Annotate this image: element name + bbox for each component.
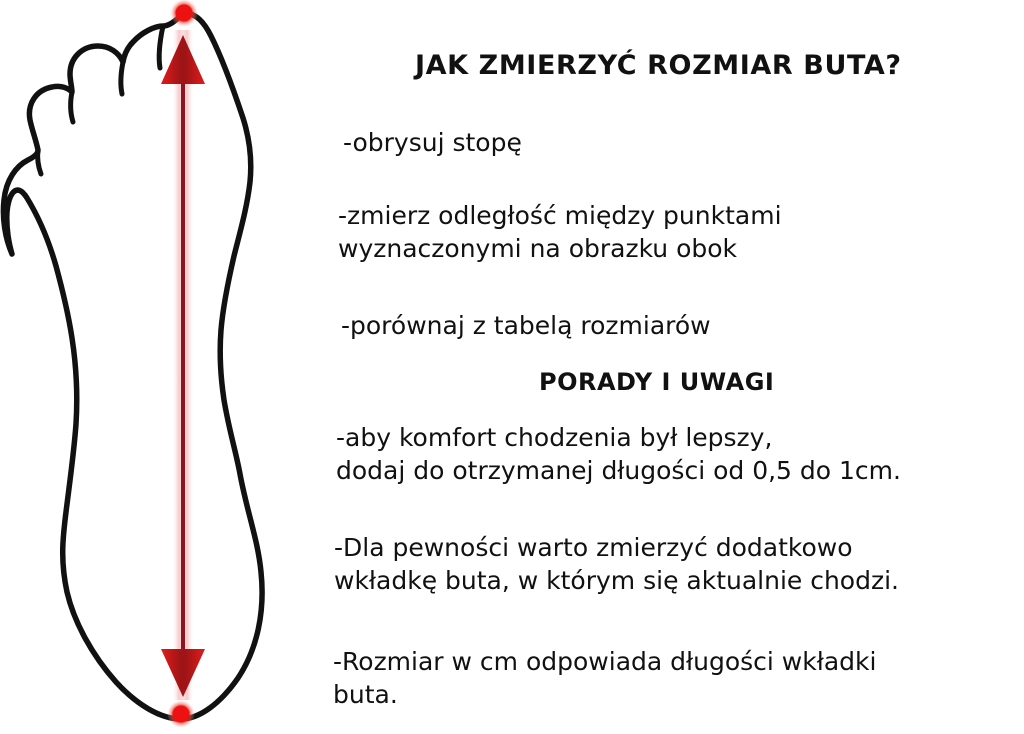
tips-heading: PORADY I UWAGI — [539, 368, 774, 396]
foot-outline-path — [3, 13, 262, 719]
foot-outline-diagram — [0, 0, 330, 734]
toe-notch-2 — [121, 62, 123, 94]
step-outline: -obrysuj stopę — [343, 126, 522, 159]
toe-point-marker-core — [176, 5, 193, 22]
toe-notch-3 — [71, 92, 73, 122]
tip-size: -Rozmiar w cm odpowiada długości wkładki… — [333, 645, 876, 711]
heel-point-marker-core — [173, 706, 190, 723]
instructions-panel: JAK ZMIERZYĆ ROZMIAR BUTA? -obrysuj stop… — [330, 0, 1024, 734]
infographic-page: JAK ZMIERZYĆ ROZMIAR BUTA? -obrysuj stop… — [0, 0, 1024, 734]
step-compare: -porównaj z tabelą rozmiarów — [341, 309, 711, 342]
tip-comfort: -aby komfort chodzenia był lepszy, dodaj… — [336, 421, 901, 487]
tip-insole: -Dla pewności warto zmierzyć dodatkowo w… — [334, 531, 899, 597]
step-measure: -zmierz odległość między punktami wyznac… — [338, 199, 782, 265]
page-title: JAK ZMIERZYĆ ROZMIAR BUTA? — [415, 50, 902, 81]
